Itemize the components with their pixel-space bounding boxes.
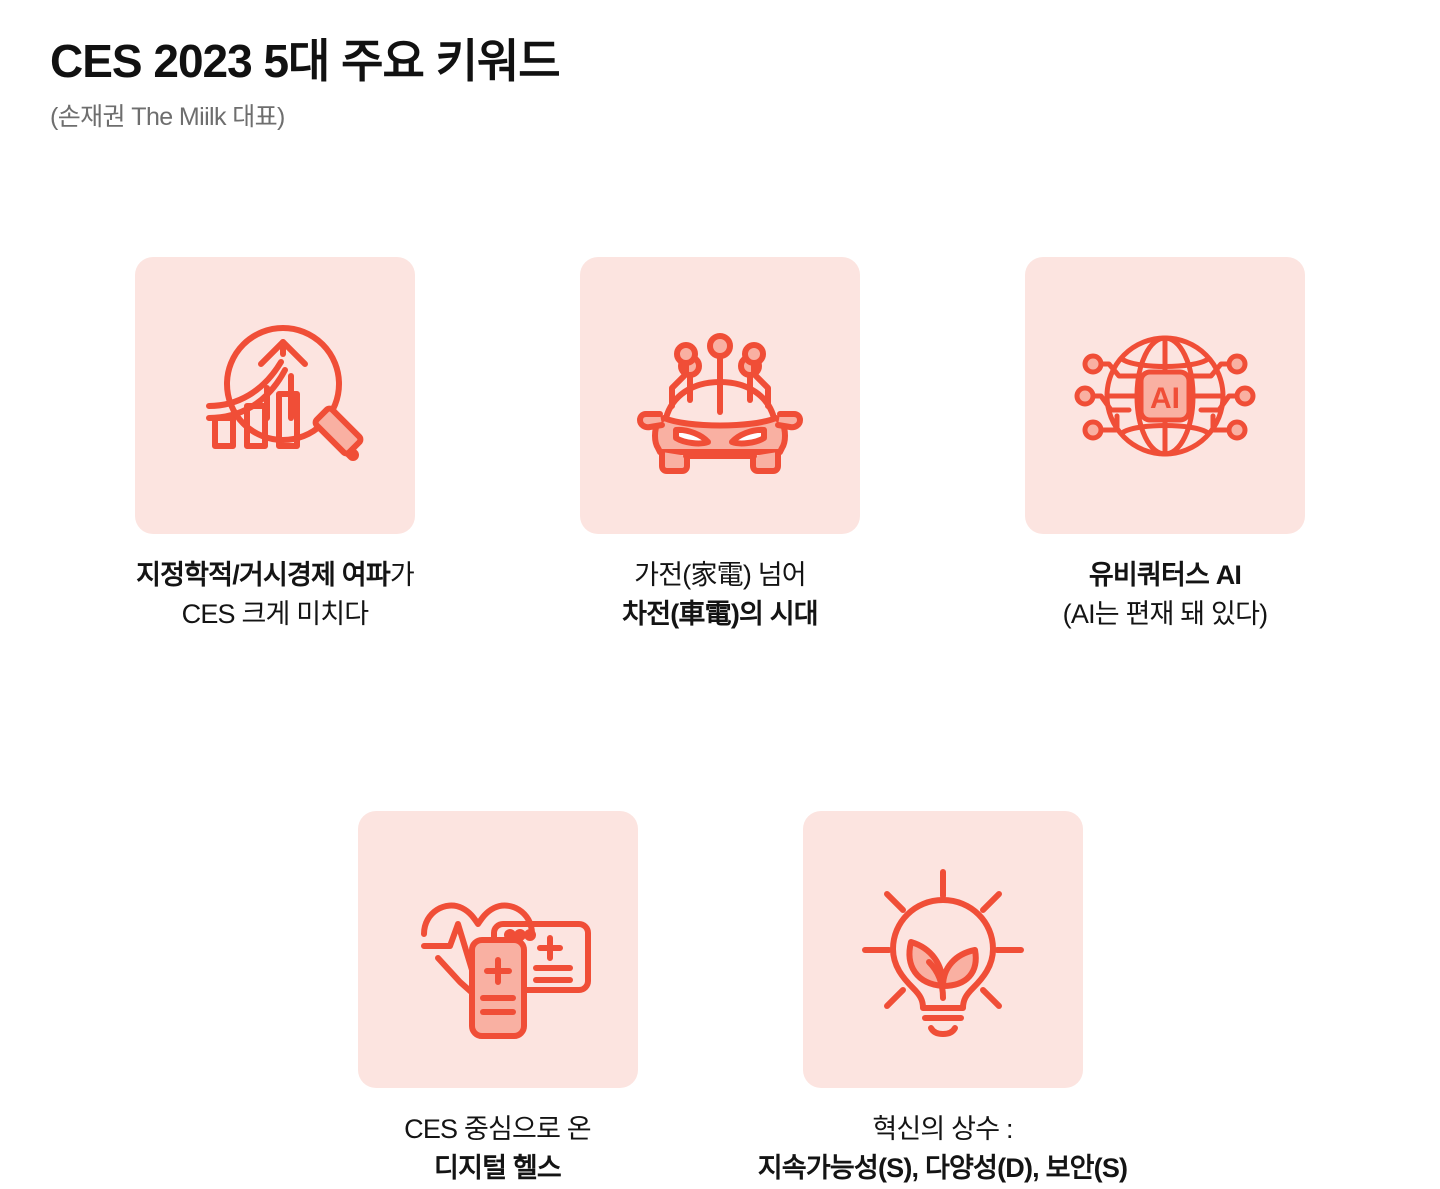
infographic-page: CES 2023 5대 주요 키워드 (손재권 The Miilk 대표) [0,0,1440,1164]
ai-globe-icon: AI [1065,296,1265,496]
card-caption-1: 지정학적/거시경제 여파가 CES 크게 미치다 [136,556,414,634]
icon-tile-5 [803,811,1083,1088]
card-caption-4: CES 중심으로 온 디지털 헬스 [404,1110,591,1188]
keyword-card-2[interactable]: 가전(家電) 넘어 차전(車電)의 시대 [580,257,860,634]
header: CES 2023 5대 주요 키워드 (손재권 The Miilk 대표) [50,34,560,132]
card-caption-2: 가전(家電) 넘어 차전(車電)의 시대 [622,556,818,634]
card-row-1: 지정학적/거시경제 여파가 CES 크게 미치다 [0,257,1440,634]
keyword-card-1[interactable]: 지정학적/거시경제 여파가 CES 크게 미치다 [135,257,415,634]
caption-line-1: 유비쿼터스 AI [1063,556,1268,595]
caption-line-1: 지정학적/거시경제 여파가 [136,556,414,595]
keyword-card-grid: 지정학적/거시경제 여파가 CES 크게 미치다 [0,257,1440,1189]
card-caption-3: 유비쿼터스 AI (AI는 편재 돼 있다) [1063,556,1268,634]
icon-tile-3: AI [1025,257,1305,534]
icon-tile-2 [580,257,860,534]
caption-line-1: CES 중심으로 온 [404,1110,591,1149]
digital-health-icon [398,850,598,1050]
caption-line-1: 혁신의 상수 : [758,1110,1127,1149]
icon-tile-4 [358,811,638,1088]
caption-line-2: 차전(車電)의 시대 [622,595,818,634]
ai-chip-label: AI [1150,382,1180,415]
keyword-card-3[interactable]: AI [1025,257,1305,634]
caption-line-1: 가전(家電) 넘어 [622,556,818,595]
eco-lightbulb-icon [843,850,1043,1050]
caption-line-2: 지속가능성(S), 다양성(D), 보안(S) [758,1149,1127,1188]
icon-tile-1 [135,257,415,534]
card-row-2: CES 중심으로 온 디지털 헬스 [0,811,1440,1188]
card-caption-5: 혁신의 상수 : 지속가능성(S), 다양성(D), 보안(S) [758,1110,1127,1188]
connected-car-icon [620,296,820,496]
caption-line-2: (AI는 편재 돼 있다) [1063,595,1268,634]
page-subtitle: (손재권 The Miilk 대표) [50,102,560,132]
page-title: CES 2023 5대 주요 키워드 [50,34,560,88]
caption-line-2: 디지털 헬스 [404,1149,591,1188]
magnifier-growth-chart-icon [175,296,375,496]
keyword-card-5[interactable]: 혁신의 상수 : 지속가능성(S), 다양성(D), 보안(S) [803,811,1083,1188]
keyword-card-4[interactable]: CES 중심으로 온 디지털 헬스 [358,811,638,1188]
caption-line-2: CES 크게 미치다 [136,595,414,634]
